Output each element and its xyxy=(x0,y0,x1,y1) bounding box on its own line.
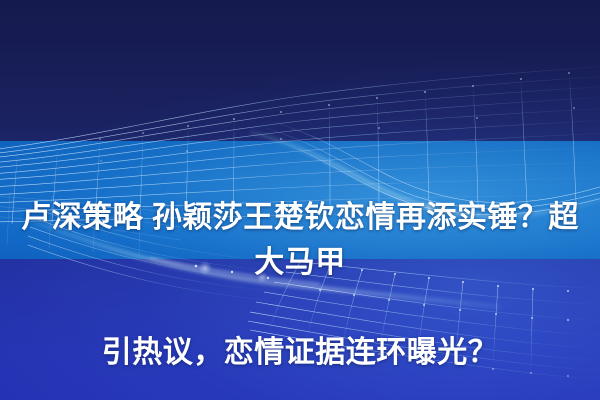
headline-text: 卢深策略 孙颖莎王楚钦恋情再添实锤？超大马甲 引热议，恋情证据连环曝光？ xyxy=(0,150,600,400)
headline-line-1: 卢深策略 孙颖莎王楚钦恋情再添实锤？超大马甲 xyxy=(8,195,592,285)
headline-line-2: 引热议，恋情证据连环曝光？ xyxy=(8,330,592,375)
article-banner: 卢深策略 孙颖莎王楚钦恋情再添实锤？超大马甲 引热议，恋情证据连环曝光？ xyxy=(0,0,600,400)
